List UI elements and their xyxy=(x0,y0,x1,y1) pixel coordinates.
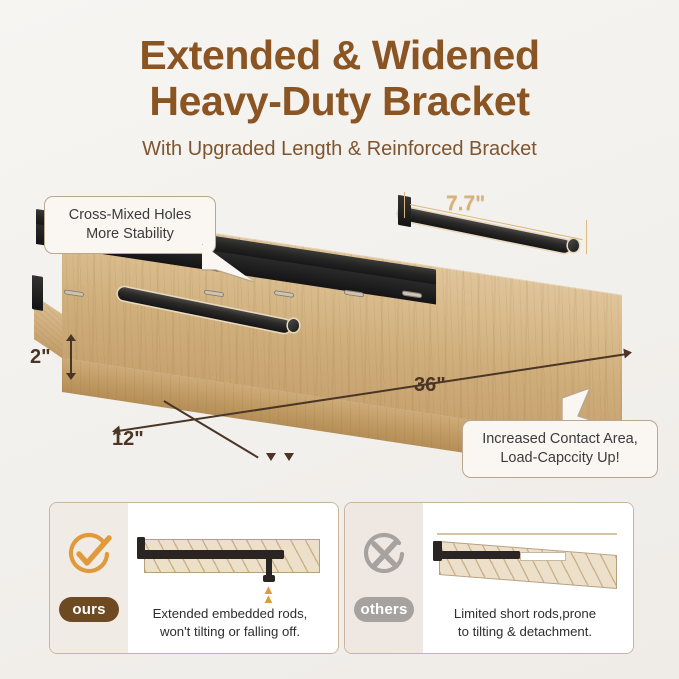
dim-2-arrowhead-top xyxy=(66,334,76,341)
infographic-canvas: Extended & Widened Heavy-Duty Bracket Wi… xyxy=(0,0,679,679)
ours-force-arrow-icon: ▲▲ xyxy=(262,585,275,603)
comparison-panel-others: others Limited short rods,prone to tilti… xyxy=(344,502,634,654)
ours-embedded-rod xyxy=(142,550,284,559)
page-subtitle: With Upgraded Length & Reinforced Bracke… xyxy=(0,137,679,161)
product-illustration: 7.7" 2" 36" 12" Cross-Mixed Holes More S… xyxy=(0,178,679,488)
title-line-2: Heavy-Duty Bracket xyxy=(0,78,679,124)
support-rod-rear-cap xyxy=(568,239,579,252)
dimension-label-depth: 12" xyxy=(112,428,144,451)
ours-caption-line-1: Extended embedded rods, xyxy=(130,605,330,623)
callout-line-2: Load-Capccity Up! xyxy=(475,449,645,468)
others-short-rod xyxy=(438,551,520,559)
cross-circle-icon xyxy=(359,529,409,579)
others-caption-line-1: Limited short rods,prone xyxy=(425,605,625,623)
dim-77-leader-right xyxy=(586,220,587,254)
ours-caption-line-2: won't tilting or falling off. xyxy=(130,623,330,641)
ours-badge-column: ours xyxy=(50,503,128,653)
ours-screw-head xyxy=(263,575,275,582)
callout-line-1: Cross-Mixed Holes xyxy=(57,206,203,225)
dim-36-arrowhead-right xyxy=(623,347,632,358)
dimension-label-rod-length: 7.7" xyxy=(446,192,485,216)
title-line-1: Extended & Widened xyxy=(139,32,539,78)
support-rod-front-cap xyxy=(288,319,299,332)
others-badge: others xyxy=(354,597,414,622)
dim-12-arrowhead-b xyxy=(284,453,294,461)
dimension-label-thickness: 2" xyxy=(30,346,51,369)
page-title: Extended & Widened Heavy-Duty Bracket xyxy=(0,32,679,124)
ours-caption: Extended embedded rods, won't tilting or… xyxy=(130,605,330,641)
bracket-end-tab-left xyxy=(32,275,43,311)
others-caption-line-2: to tilting & detachment. xyxy=(425,623,625,641)
others-badge-column: others xyxy=(345,503,423,653)
comparison-panel-ours: ours ▲▲ Extended embedded rods, won't ti… xyxy=(49,502,339,654)
others-wall-line xyxy=(437,533,617,535)
others-empty-cavity xyxy=(520,552,566,561)
dim-77-leader-left xyxy=(404,192,405,218)
dim-12-arrowhead-a xyxy=(266,453,276,461)
check-circle-icon xyxy=(64,529,114,579)
callout-line-1: Increased Contact Area, xyxy=(475,430,645,449)
callout-increased-contact-area: Increased Contact Area, Load-Capccity Up… xyxy=(462,420,658,478)
dim-2-arrowhead-bottom xyxy=(66,373,76,380)
dim-2-arrow-line xyxy=(70,338,72,376)
callout-cross-mixed-holes: Cross-Mixed Holes More Stability xyxy=(44,196,216,254)
dimension-label-length: 36" xyxy=(414,374,446,397)
others-caption: Limited short rods,prone to tilting & de… xyxy=(425,605,625,641)
others-shelf-cross-section xyxy=(439,541,617,589)
callout-left-tail xyxy=(202,244,254,280)
callout-line-2: More Stability xyxy=(57,225,203,244)
ours-badge: ours xyxy=(59,597,119,622)
